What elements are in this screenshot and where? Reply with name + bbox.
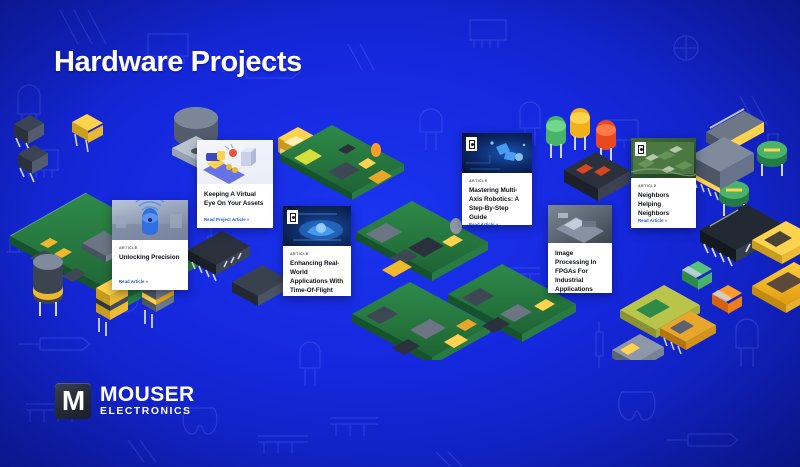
card-thumbnail: [548, 205, 612, 243]
logo-mark-letter: M: [62, 387, 84, 415]
card-thumbnail: [462, 133, 532, 173]
card-body: ARTICLE Unlocking Precision: [112, 240, 188, 279]
logo-brand-subtitle: ELECTRONICS: [100, 407, 195, 417]
card-body: ARTICLE Enhancing Real-World Application…: [283, 246, 351, 296]
card-eyebrow: ARTICLE: [119, 246, 181, 250]
card-thumbnail: [112, 200, 188, 240]
read-article-link[interactable]: Read Project Article »: [197, 217, 273, 228]
video-badge-icon: [287, 210, 298, 224]
read-article-link[interactable]: Read Article »: [112, 279, 188, 290]
article-card[interactable]: ARTICLE Unlocking Precision Read Article…: [112, 200, 188, 290]
card-eyebrow: ARTICLE: [469, 179, 525, 183]
card-title: Mastering Multi-Axis Robotics: A Step-By…: [469, 186, 525, 222]
video-badge-icon: [635, 142, 646, 156]
video-badge-icon: [466, 137, 477, 151]
article-card[interactable]: ARTICLE Enhancing Real-World Application…: [283, 206, 351, 296]
card-body: ARTICLE Neighbors Helping Neighbors: [631, 178, 696, 218]
card-title: Neighbors Helping Neighbors: [638, 191, 689, 218]
card-thumbnail: [631, 138, 696, 178]
card-body: Keeping A Virtual Eye On Your Assets: [197, 184, 273, 217]
read-article-link[interactable]: Read Article »: [631, 218, 696, 228]
logo-mark-icon: M: [55, 383, 91, 419]
card-title: Enhancing Real-World Applications With T…: [290, 259, 344, 296]
hero-banner: Hardware Projects Keeping A Virtual Eye …: [0, 0, 800, 467]
logo-wordmark: MOUSER ELECTRONICS: [100, 384, 195, 417]
article-card[interactable]: ARTICLE Mastering Multi-Axis Robotics: A…: [462, 133, 532, 225]
article-card[interactable]: Keeping A Virtual Eye On Your Assets Rea…: [197, 140, 273, 228]
card-thumbnail: [283, 206, 351, 246]
page-title: Hardware Projects: [54, 46, 302, 79]
article-card[interactable]: Image Processing In FPGAs For Industrial…: [548, 205, 612, 293]
logo-brand-name: MOUSER: [100, 384, 195, 405]
article-card[interactable]: ARTICLE Neighbors Helping Neighbors Read…: [631, 138, 696, 228]
card-thumbnail: [197, 140, 273, 184]
card-eyebrow: ARTICLE: [290, 252, 344, 256]
mouser-logo[interactable]: M MOUSER ELECTRONICS: [55, 383, 195, 419]
card-title: Keeping A Virtual Eye On Your Assets: [204, 190, 266, 208]
card-eyebrow: ARTICLE: [638, 184, 689, 188]
card-title: Unlocking Precision: [119, 253, 181, 262]
read-article-link[interactable]: Read Article »: [462, 222, 532, 225]
card-body: Image Processing In FPGAs For Industrial…: [548, 243, 612, 293]
card-title: Image Processing In FPGAs For Industrial…: [555, 249, 605, 293]
card-body: ARTICLE Mastering Multi-Axis Robotics: A…: [462, 173, 532, 222]
